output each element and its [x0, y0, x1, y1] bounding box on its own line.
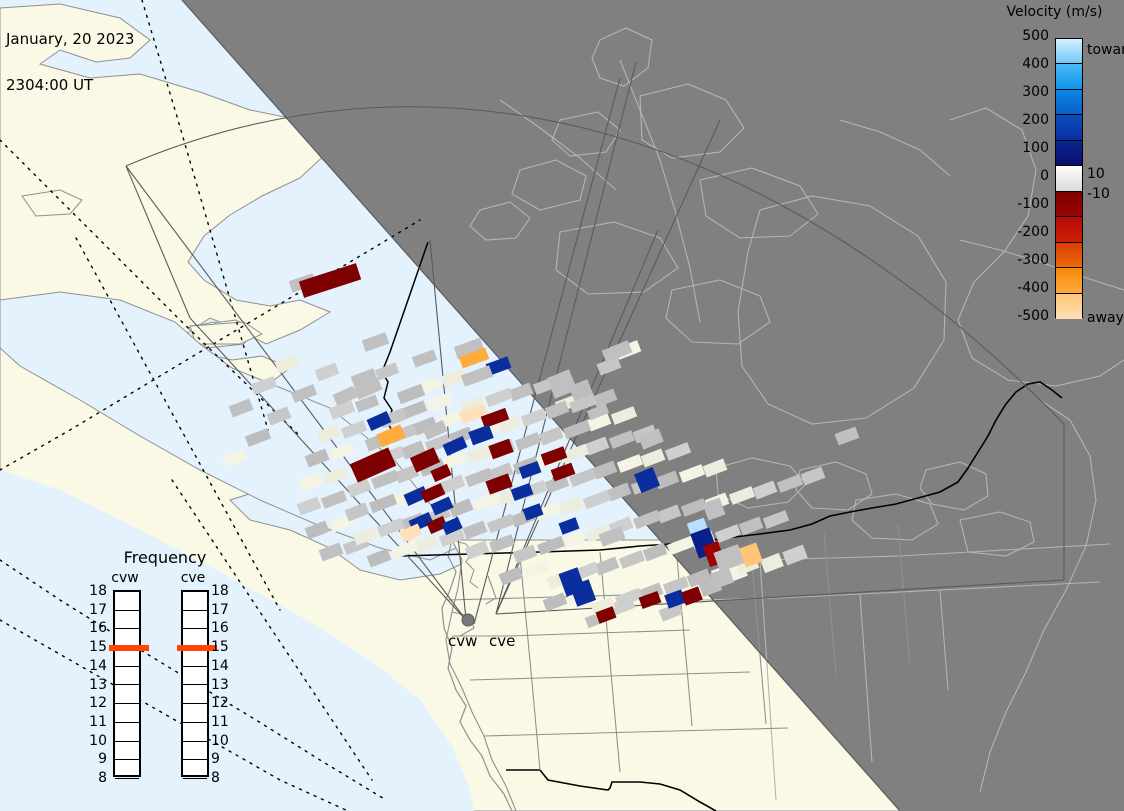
colorbar-segment: [1056, 243, 1082, 268]
colorbar-tick: 300: [1022, 84, 1049, 100]
frequency-axis-label: 8: [81, 771, 107, 785]
timestamp-date: January, 20 2023: [6, 32, 134, 48]
frequency-scale-box: [181, 590, 209, 777]
frequency-axis-label: 10: [81, 734, 107, 748]
colorbar-segment: [1056, 192, 1082, 217]
frequency-marker: [109, 645, 149, 651]
colorbar-tick: 400: [1022, 56, 1049, 72]
frequency-scale-tick: [183, 592, 207, 611]
frequency-scale-tick: [115, 704, 139, 723]
radar-map-figure: January, 20 2023 2304:00 UT cvw cve Velo…: [0, 0, 1124, 811]
frequency-scale-tick: [183, 723, 207, 742]
frequency-axis-label: 11: [81, 715, 107, 729]
site-label-cvw: cvw: [448, 632, 477, 650]
frequency-axis-label: 14: [81, 659, 107, 673]
colorbar-segment: [1056, 64, 1082, 89]
frequency-axis-label: 16: [81, 621, 107, 635]
frequency-scale-tick: [115, 667, 139, 686]
frequency-scale-tick: [183, 760, 207, 779]
frequency-scale-tick: [183, 667, 207, 686]
colorbar-segment: [1056, 141, 1082, 166]
colorbar-segment: [1056, 166, 1082, 191]
colorbar-strip: [1055, 38, 1083, 318]
frequency-axis-label: 11: [211, 715, 237, 729]
frequency-axis-label: 18: [211, 584, 237, 598]
frequency-scale-box: [113, 590, 141, 777]
colorbar-tick: 100: [1022, 140, 1049, 156]
frequency-axis-label: 15: [81, 640, 107, 654]
colorbar-segment: [1056, 39, 1082, 64]
colorbar-title: Velocity (m/s): [985, 4, 1124, 20]
frequency-legend: Frequency cvw18171615141312111098cve1817…: [95, 548, 235, 798]
frequency-axis-label: 15: [211, 640, 237, 654]
colorbar-tick: 200: [1022, 112, 1049, 128]
timestamp-block: January, 20 2023 2304:00 UT: [6, 2, 134, 123]
colorbar-segment: [1056, 90, 1082, 115]
colorbar-segment: [1056, 115, 1082, 140]
frequency-scale-tick: [115, 592, 139, 611]
timestamp-time: 2304:00 UT: [6, 78, 134, 94]
frequency-scale-tick: [115, 685, 139, 704]
frequency-axis-label: 13: [81, 678, 107, 692]
frequency-scale-tick: [115, 742, 139, 761]
frequency-scale-tick: [115, 723, 139, 742]
frequency-axis-label: 18: [81, 584, 107, 598]
frequency-axis-label: 13: [211, 678, 237, 692]
frequency-legend-title: Frequency: [95, 548, 235, 567]
radar-site-marker: [462, 614, 474, 626]
frequency-scale-tick: [183, 685, 207, 704]
colorbar-tick: -200: [1017, 224, 1049, 240]
colorbar-away-label: away: [1087, 310, 1124, 326]
frequency-axis-label: 16: [211, 621, 237, 635]
colorbar-tick: 0: [1040, 168, 1049, 184]
frequency-scale-tick: [183, 742, 207, 761]
colorbar-negative-threshold-label: -10: [1087, 186, 1110, 202]
frequency-axis-label: 17: [211, 603, 237, 617]
frequency-axis-label: 12: [81, 696, 107, 710]
colorbar-toward-label: toward: [1087, 42, 1124, 58]
colorbar-tick: -300: [1017, 252, 1049, 268]
colorbar-positive-threshold-label: 10: [1087, 166, 1105, 182]
site-label-cve: cve: [489, 632, 515, 650]
colorbar-tick: 500: [1022, 28, 1049, 44]
colorbar-tick: -400: [1017, 280, 1049, 296]
frequency-scale-tick: [115, 760, 139, 779]
colorbar-segment: [1056, 268, 1082, 293]
colorbar-tick: -500: [1017, 308, 1049, 324]
colorbar-segment: [1056, 217, 1082, 242]
frequency-axis-label: 14: [211, 659, 237, 673]
frequency-axis-label: 9: [211, 752, 237, 766]
frequency-axis-label: 8: [211, 771, 237, 785]
frequency-scale-tick: [183, 611, 207, 630]
frequency-axis-label: 9: [81, 752, 107, 766]
frequency-axis-label: 12: [211, 696, 237, 710]
frequency-scale-tick: [183, 704, 207, 723]
colorbar-tick: -100: [1017, 196, 1049, 212]
colorbar-segment: [1056, 294, 1082, 319]
frequency-axis-label: 10: [211, 734, 237, 748]
frequency-axis-label: 17: [81, 603, 107, 617]
frequency-scale-tick: [115, 611, 139, 630]
velocity-colorbar: Velocity (m/s) 5004003002001000-100-200-…: [985, 0, 1124, 330]
